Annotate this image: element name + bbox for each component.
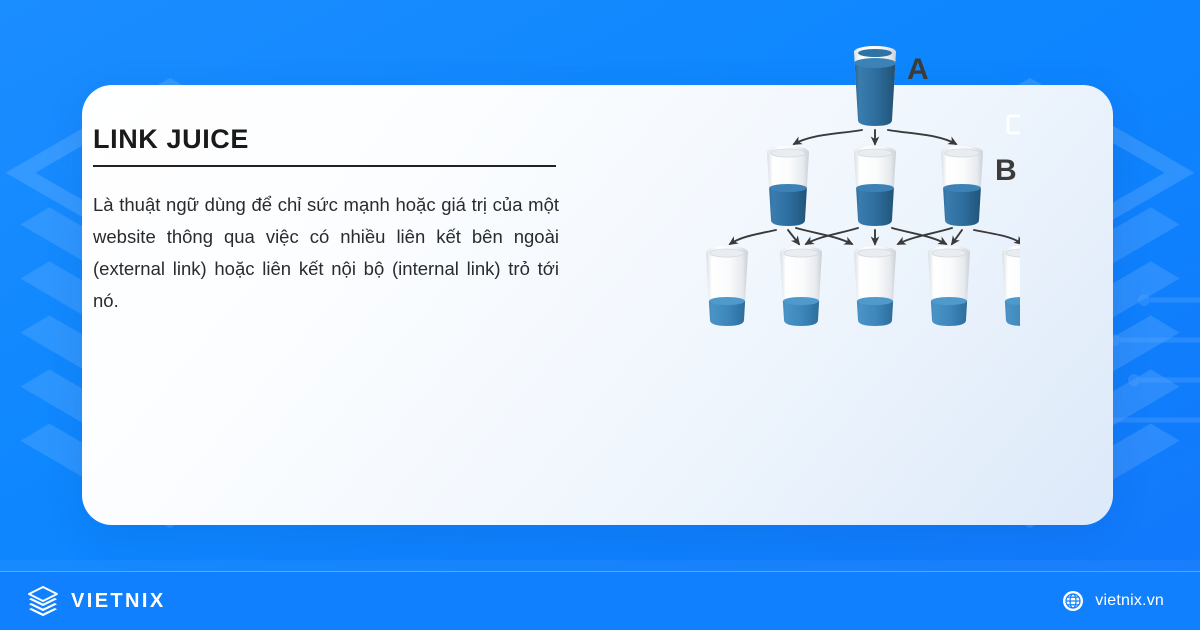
- page-title: LINK JUICE: [93, 125, 559, 155]
- globe-icon: [1062, 590, 1084, 612]
- cup-b2: [852, 146, 898, 232]
- cup-a: [852, 46, 898, 129]
- brand-name: VIETNIX: [71, 590, 166, 613]
- decorative-square: [1008, 116, 1020, 133]
- label-b: B: [995, 154, 1017, 187]
- footer-bar: VIETNIX vietnix.vn: [0, 572, 1200, 630]
- title-underline: [93, 165, 556, 167]
- cup-b3: [939, 146, 985, 232]
- brand-logo: VIETNIX: [26, 584, 166, 618]
- arrows-a-to-b: [794, 130, 956, 144]
- text-block: LINK JUICE Là thuật ngữ dùng để chỉ sức …: [93, 125, 559, 317]
- label-a: A: [907, 53, 929, 86]
- cup-c4: [926, 246, 972, 333]
- cup-b1: [765, 146, 811, 232]
- arrows-b-to-c: [730, 228, 1020, 244]
- cup-c1: [704, 246, 750, 333]
- layers-icon: [26, 584, 60, 618]
- cup-c2: [778, 246, 824, 333]
- site-url: vietnix.vn: [1095, 592, 1164, 610]
- cup-c5: [1000, 246, 1020, 333]
- cup-c3: [852, 246, 898, 333]
- site-link[interactable]: vietnix.vn: [1062, 590, 1164, 612]
- link-juice-diagram: A B: [600, 30, 1020, 360]
- description-text: Là thuật ngữ dùng để chỉ sức mạnh hoặc g…: [93, 189, 559, 317]
